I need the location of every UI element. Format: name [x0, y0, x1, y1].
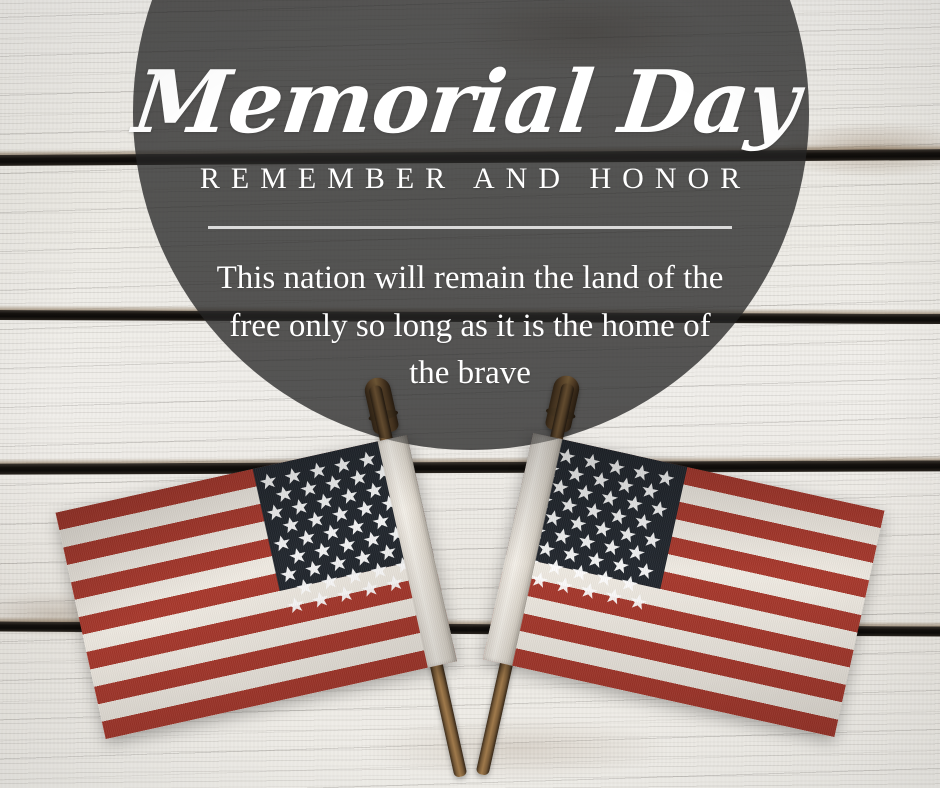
us-flag-left [55, 435, 457, 739]
flag-shading [483, 433, 885, 737]
memorial-day-poster: Memorial Day REMEMBER AND HONOR This nat… [0, 0, 940, 788]
us-flag-right [483, 433, 885, 737]
decorative-divider [208, 226, 732, 229]
flag-shading [55, 435, 457, 739]
poster-subtitle: REMEMBER AND HONOR [0, 162, 940, 196]
poster-quote: This nation will remain the land of the … [210, 255, 730, 399]
poster-text-block: Memorial Day REMEMBER AND HONOR This nat… [0, 0, 940, 398]
poster-title: Memorial Day [0, 0, 940, 144]
